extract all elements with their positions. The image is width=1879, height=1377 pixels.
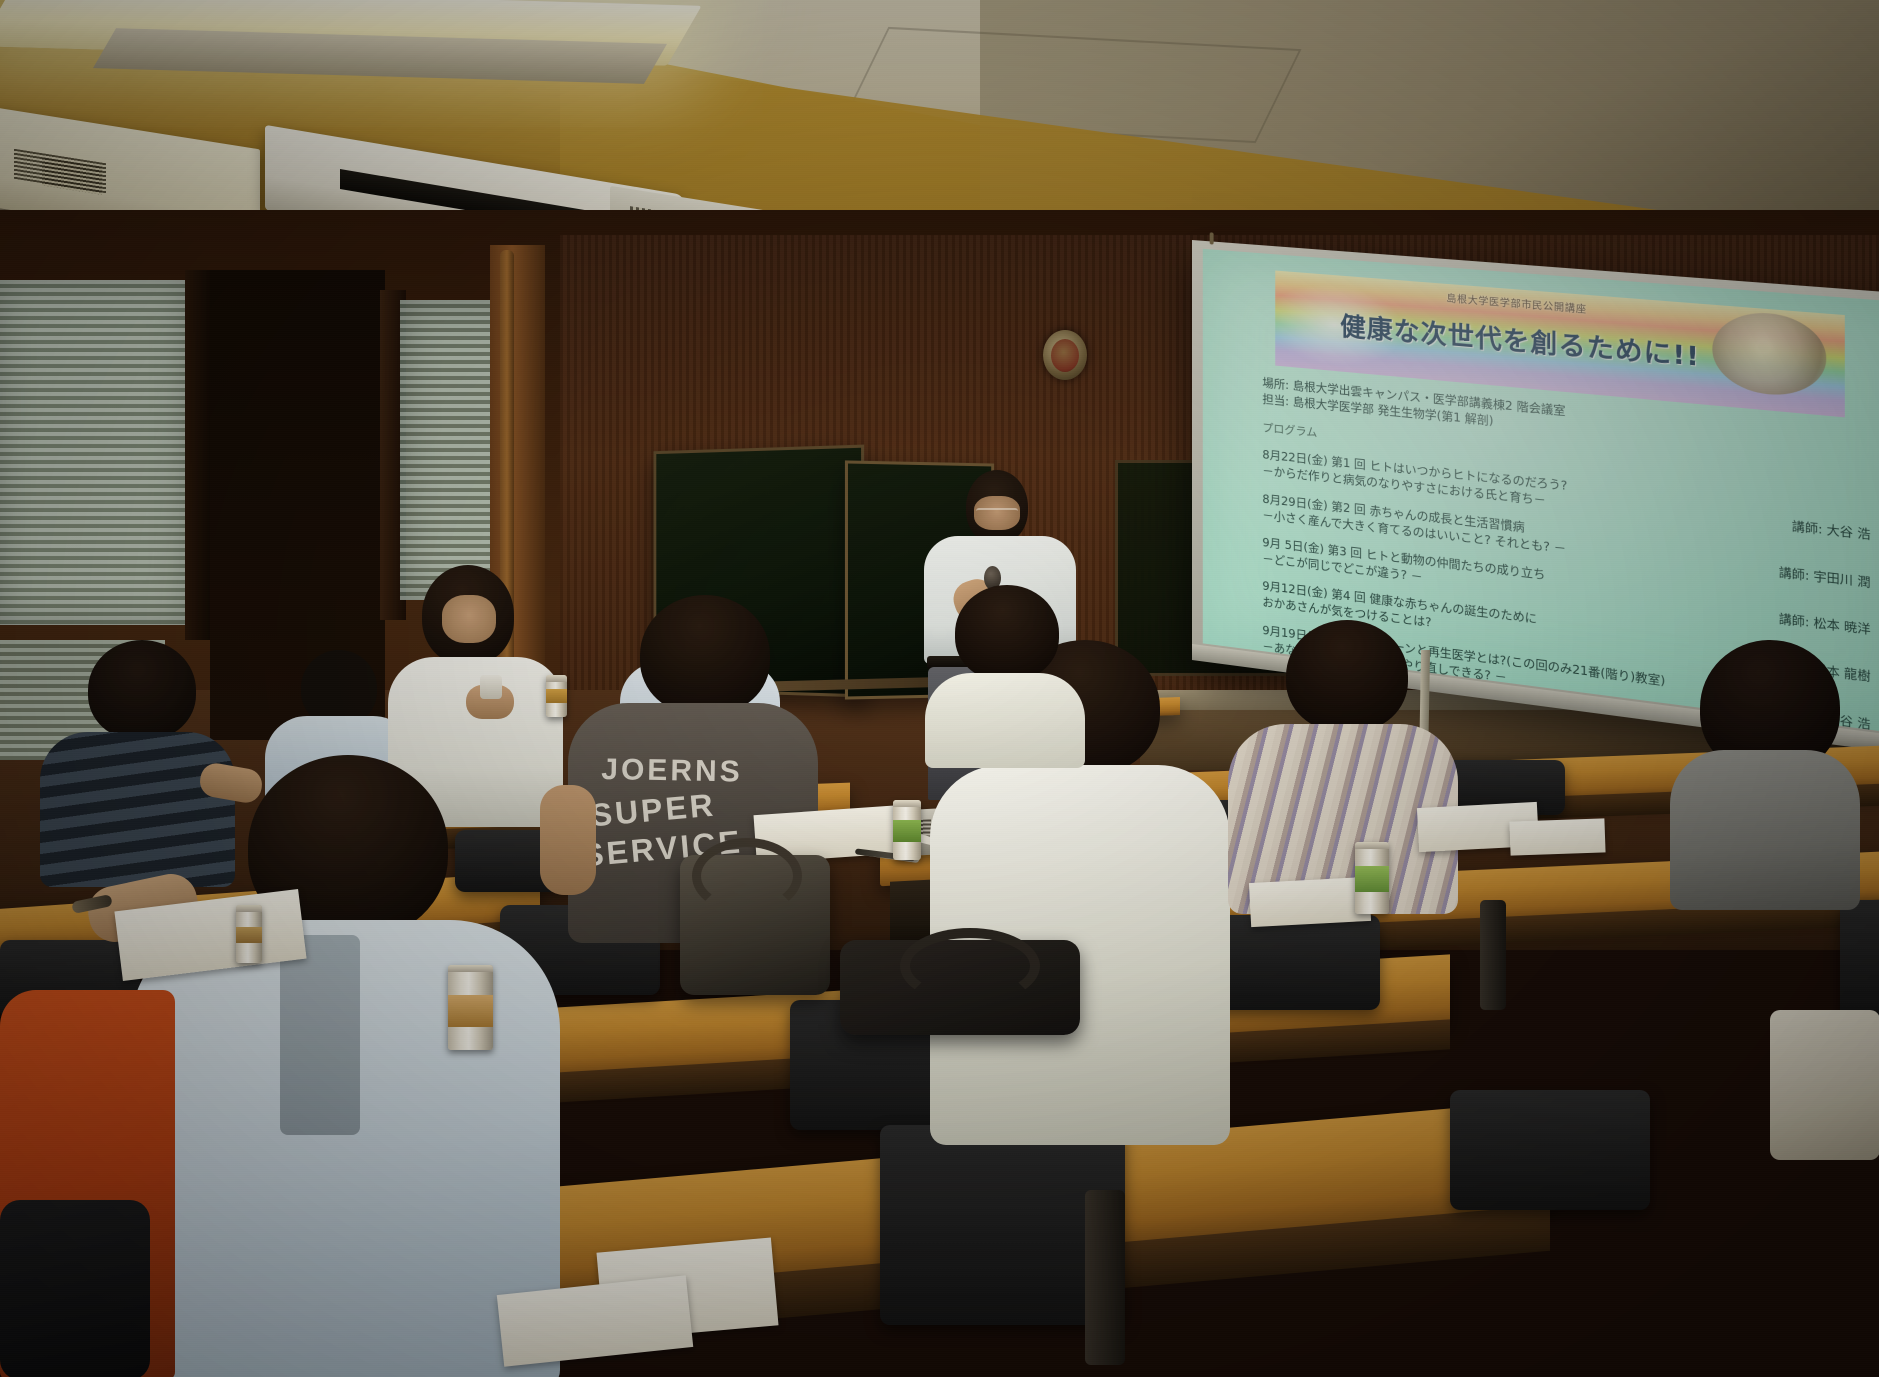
attendee-body [1670,750,1860,910]
screen-hook-icon [1210,232,1214,244]
attendee-far-right [1640,640,1855,900]
drink-can[interactable] [448,965,493,1050]
can-top-icon [448,965,493,972]
tshirt-line-1: JOERNS [601,754,743,789]
attendee-foreground [130,755,560,1377]
can-top-icon [1355,842,1389,849]
attendee-head [301,650,377,726]
drink-can[interactable] [893,800,921,860]
chair[interactable] [1840,900,1879,1020]
lecture-room-photo: 島根大学医学部市民公開講座 健康な次世代を創るために!! 場所: 島根大学出雲キ… [0,0,1879,1377]
chair-leg [1480,900,1506,1010]
can-top-icon [546,675,567,682]
attendee-orange [0,990,175,1377]
glasses-icon [976,508,1018,518]
window-frame-left [185,270,213,640]
attendee-face [442,595,496,643]
attendee-head [88,640,196,740]
tote-bag[interactable] [1770,1010,1879,1160]
drink-can[interactable] [546,675,567,717]
bag-strap-icon [900,928,1040,1004]
handout-paper[interactable] [1509,818,1605,855]
can-label [893,820,921,842]
drink-can[interactable] [1355,842,1389,914]
can-label [546,689,567,703]
handout-paper[interactable] [1249,877,1371,927]
can-top-icon [893,800,921,807]
bag-dark [0,1200,150,1377]
venetian-blinds-left [0,280,190,625]
drink-can[interactable] [236,905,262,963]
can-label [448,995,493,1027]
chair-leg [1085,1190,1125,1365]
attendee-right-dark [925,585,1085,755]
clock-face-icon [1051,339,1079,372]
held-object [480,675,502,699]
attendee-head [955,585,1059,681]
bag-strap-icon [692,838,802,914]
can-label [1355,866,1389,892]
attendee-head [640,595,770,715]
can-label [236,927,262,943]
attendee-head [1286,620,1408,732]
attendee-top [925,673,1085,768]
attendee-striped-top [1228,620,1458,910]
shirt-collar-shadow [280,935,360,1135]
chair[interactable] [1450,1090,1650,1210]
can-top-icon [236,905,262,912]
